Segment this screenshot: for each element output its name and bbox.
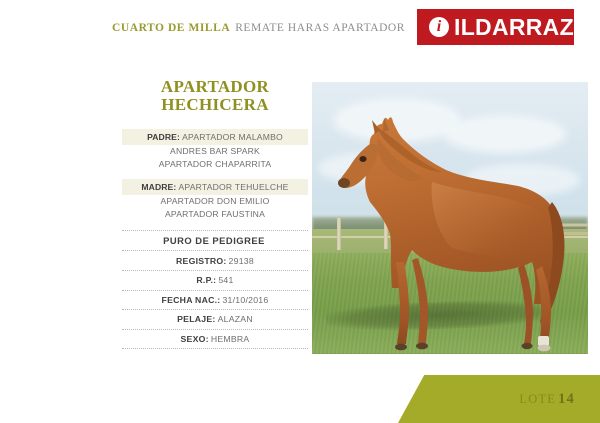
info-i-icon: i [429, 17, 449, 37]
spec-value: 29138 [229, 256, 254, 266]
horse-muzzle [338, 178, 350, 188]
horse-photo [312, 82, 588, 354]
table-row: REGISTRO:29138 [122, 251, 308, 271]
sire-value: APARTADOR MALAMBO [182, 132, 283, 142]
table-row: SEXO:HEMBRA [122, 330, 308, 350]
specs-table: PURO DE PEDIGREE REGISTRO:29138 R.P.:541… [122, 230, 308, 349]
sire-row-3: APARTADOR CHAPARRITA [122, 158, 308, 171]
table-row: FECHA NAC.:31/10/2016 [122, 291, 308, 311]
horse-hoof [522, 343, 533, 349]
animal-info-panel: APARTADOR HECHICERA PADRE: APARTADOR MAL… [122, 78, 308, 349]
dam-row-1: MADRE: APARTADOR TEHUELCHE [122, 179, 308, 195]
sire-row-2: ANDRES BAR SPARK [122, 145, 308, 158]
spec-value: 541 [218, 275, 233, 285]
horse-hoof [395, 344, 407, 351]
header-keyword: CUARTO DE MILLA [112, 22, 230, 34]
pedigree-block: PADRE: APARTADOR MALAMBO ANDRES BAR SPAR… [122, 129, 308, 221]
lot-label-group: LOTE14 [519, 391, 575, 408]
horse-hoof [538, 345, 551, 352]
table-row: PELAJE:ALAZAN [122, 310, 308, 330]
dam-row-2: APARTADOR DON EMILIO [122, 195, 308, 208]
spec-key: SEXO: [181, 334, 209, 344]
animal-name-line1: APARTADOR [161, 77, 269, 96]
sire-block: PADRE: APARTADOR MALAMBO ANDRES BAR SPAR… [122, 129, 308, 170]
header-subtitle: REMATE HARAS APARTADOR [235, 22, 405, 34]
animal-name-line2: HECHICERA [122, 96, 308, 114]
spec-key: PELAJE: [177, 314, 215, 324]
sire-row-1: PADRE: APARTADOR MALAMBO [122, 129, 308, 145]
table-row: PURO DE PEDIGREE [122, 231, 308, 252]
horse-foreleg-far [412, 258, 428, 343]
dam-block: MADRE: APARTADOR TEHUELCHE APARTADOR DON… [122, 179, 308, 220]
header-title: CUARTO DE MILLAREMATE HARAS APARTADOR [112, 22, 405, 34]
dam-value: APARTADOR TEHUELCHE [178, 182, 288, 192]
horse-sock [538, 336, 549, 346]
spec-value: ALAZAN [218, 314, 253, 324]
horse-silhouette [312, 82, 588, 354]
lot-label: LOTE [519, 392, 556, 406]
spec-key: R.P.: [196, 275, 216, 285]
page-header: CUARTO DE MILLAREMATE HARAS APARTADOR i … [0, 0, 600, 58]
sire-label: PADRE: [147, 132, 180, 142]
dam-label: MADRE: [141, 182, 176, 192]
horse-foreleg-near [396, 262, 409, 344]
logo-wordmark: ILDARRAZ [454, 16, 574, 39]
horse-hindleg-far [518, 264, 533, 344]
horse-eye [359, 156, 366, 162]
spec-value: 31/10/2016 [222, 295, 268, 305]
dam-row-3: APARTADOR FAUSTINA [122, 208, 308, 221]
photo-baseline [312, 353, 588, 354]
spec-key: PURO DE PEDIGREE [163, 235, 265, 246]
table-row: R.P.:541 [122, 271, 308, 291]
spec-key: FECHA NAC.: [162, 295, 221, 305]
ildarraz-logo: i ILDARRAZ [417, 9, 574, 45]
horse-hoof [416, 343, 428, 350]
animal-name: APARTADOR HECHICERA [122, 78, 308, 113]
spec-key: REGISTRO: [176, 256, 227, 266]
lot-number: 14 [558, 391, 575, 407]
logo-mark-letter: i [437, 19, 441, 35]
spec-value: HEMBRA [211, 334, 250, 344]
